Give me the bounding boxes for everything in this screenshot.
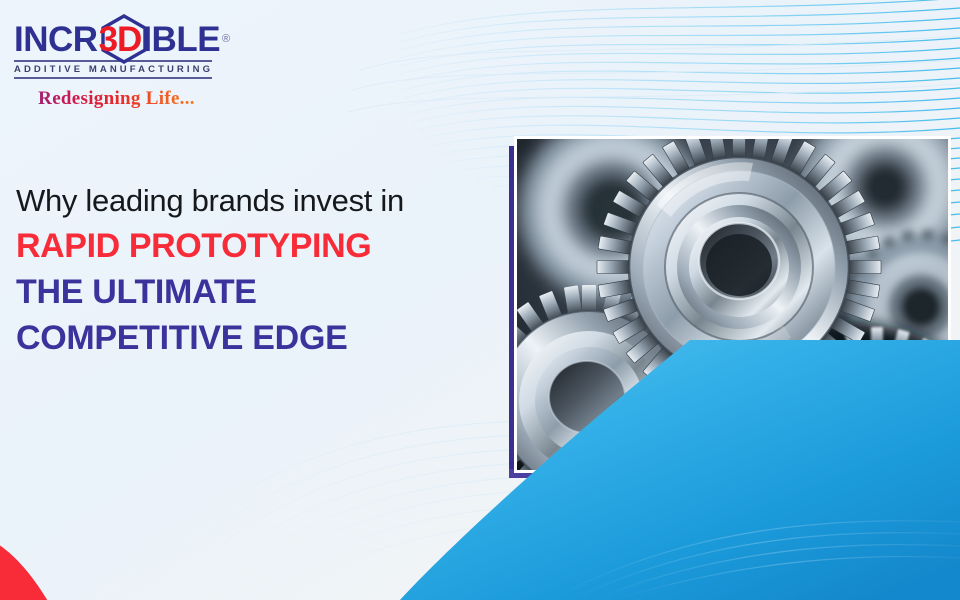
logo-wordmark: INCR3DIBLE®	[14, 18, 229, 60]
headline-line-2: RAPID PROTOTYPING	[16, 227, 486, 266]
logo-text: INCR3DIBLE®	[14, 22, 230, 57]
logo-divider-bottom	[14, 77, 212, 79]
company-logo[interactable]: INCR3DIBLE® ADDITIVE MANUFACTURING Redes…	[14, 18, 229, 110]
registered-trademark-icon: ®	[222, 34, 230, 45]
headline-block: Why leading brands invest in RAPID PROTO…	[16, 183, 486, 359]
bottom-left-red-shape	[0, 516, 100, 600]
logo-text-3d: 3D	[98, 22, 143, 57]
bottom-right-blue-shape	[400, 340, 960, 600]
logo-subtitle: ADDITIVE MANUFACTURING	[14, 64, 229, 75]
headline-line-3: THE ULTIMATE	[16, 273, 486, 312]
logo-text-part1: INCR	[14, 22, 98, 57]
marketing-banner: INCR3DIBLE® ADDITIVE MANUFACTURING Redes…	[0, 0, 960, 600]
top-decorative-blob	[355, 0, 555, 50]
logo-text-part2: IBLE	[142, 22, 220, 57]
logo-tagline: Redesigning Life...	[14, 88, 219, 110]
headline-line-1: Why leading brands invest in	[16, 183, 486, 220]
